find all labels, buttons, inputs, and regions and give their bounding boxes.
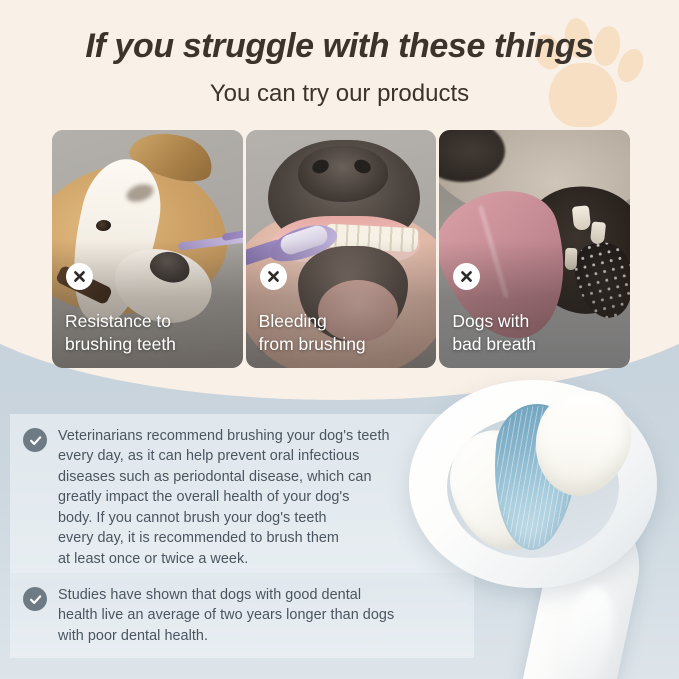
problem-card[interactable]: Dogs with bad breath (439, 130, 630, 368)
info-panel: Veterinarians recommend brushing your do… (10, 414, 474, 581)
check-circle-icon (23, 587, 47, 611)
card-label: Dogs with bad breath (452, 310, 622, 355)
check-circle-icon (23, 428, 47, 452)
info-panel: Studies have shown that dogs with good d… (10, 573, 474, 658)
card-label: Resistance to brushing teeth (65, 310, 235, 355)
problem-card[interactable]: Bleeding from brushing (246, 130, 437, 368)
card-label: Bleeding from brushing (259, 310, 429, 355)
problem-card[interactable]: Resistance to brushing teeth (52, 130, 243, 368)
x-circle-icon (260, 263, 287, 290)
page-title: If you struggle with these things (0, 27, 679, 66)
x-circle-icon (66, 263, 93, 290)
problem-card-row: Resistance to brushing teeth (52, 130, 630, 368)
page-subtitle: You can try our products (0, 80, 679, 108)
info-panel-text: Studies have shown that dogs with good d… (58, 585, 394, 646)
info-panel-text: Veterinarians recommend brushing your do… (58, 426, 390, 569)
infographic-root: If you struggle with these things You ca… (0, 0, 679, 679)
